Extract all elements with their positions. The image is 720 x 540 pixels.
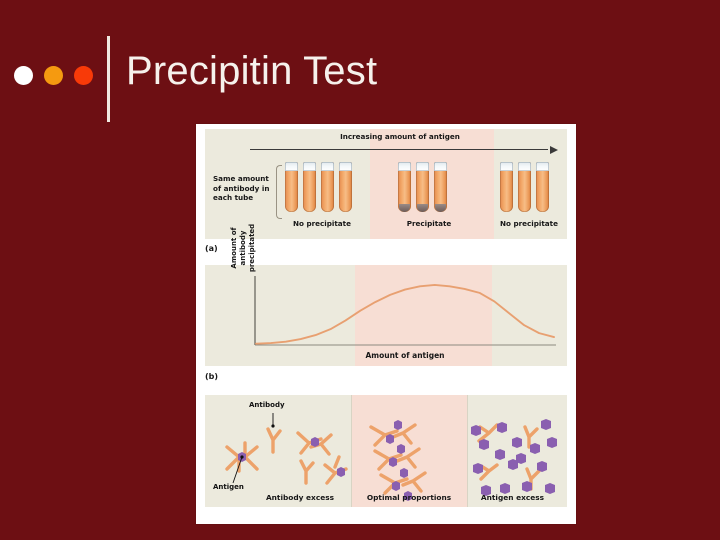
antigen-hexagon xyxy=(537,461,547,472)
antibody-brace-icon xyxy=(276,165,282,219)
panel-b-tag: (b) xyxy=(205,372,218,381)
antigen-hexagon xyxy=(516,453,526,464)
tube-meniscus xyxy=(285,162,298,171)
test-tube xyxy=(536,162,549,212)
lattice-svg xyxy=(205,395,567,507)
caption-optimal-proportions: Optimal proportions xyxy=(354,493,464,502)
test-tube xyxy=(303,162,316,212)
caption-antibody-excess: Antibody excess xyxy=(245,493,355,502)
callout-dot xyxy=(240,455,243,458)
test-tube xyxy=(321,162,334,212)
arrow-line xyxy=(250,149,548,150)
antigen-hexagon xyxy=(400,468,408,478)
callout-dot xyxy=(271,424,274,427)
panel-a-test-tubes: Increasing amount of antigen Same amount… xyxy=(205,129,567,239)
dot-white-icon xyxy=(14,66,33,85)
tube-meniscus xyxy=(500,162,513,171)
dot-red-icon xyxy=(74,66,93,85)
arrow-head-icon xyxy=(550,146,558,154)
tube-meniscus xyxy=(518,162,531,171)
dot-amber-icon xyxy=(44,66,63,85)
tube-meniscus xyxy=(398,162,411,171)
antigen-hexagon xyxy=(522,481,532,492)
antigen-hexagon xyxy=(397,444,405,454)
antigen-hexagon xyxy=(386,434,394,444)
caption-no-precipitate-right: No precipitate xyxy=(479,219,579,228)
test-tube xyxy=(398,162,411,212)
antigen-hexagon xyxy=(495,449,505,460)
slide-header: Precipitin Test xyxy=(0,0,720,125)
test-tube xyxy=(500,162,513,212)
precipitate-layer xyxy=(399,204,411,212)
tube-meniscus xyxy=(321,162,334,171)
chart-x-axis-label: Amount of antigen xyxy=(254,351,556,360)
precipitate-layer xyxy=(435,204,447,212)
antigen-hexagon xyxy=(389,457,397,467)
caption-antigen-excess: Antigen excess xyxy=(460,493,565,502)
tube-group-no-precipitate-right xyxy=(500,162,549,212)
test-tube xyxy=(518,162,531,212)
tube-meniscus xyxy=(416,162,429,171)
test-tube xyxy=(434,162,447,212)
y-label-line-2: precipitated xyxy=(248,224,256,272)
y-label-line-1: Amount of antibody xyxy=(230,227,247,268)
test-tube xyxy=(285,162,298,212)
antigen-hexagon xyxy=(473,463,483,474)
antigen-hexagon xyxy=(512,437,522,448)
antigen-shapes-group xyxy=(238,437,345,477)
page-title: Precipitin Test xyxy=(126,47,377,95)
panel-b-precipitin-curve: Amount of antibody precipitated Amount o… xyxy=(205,265,567,366)
tube-meniscus xyxy=(303,162,316,171)
increasing-antigen-arrow xyxy=(250,145,558,155)
caption-no-precipitate-left: No precipitate xyxy=(267,219,377,228)
chart-y-axis-label: Amount of antibody precipitated xyxy=(230,215,257,281)
antigen-hexagon xyxy=(497,422,507,433)
title-divider-rule xyxy=(107,36,110,122)
precipitin-figure-card: Increasing amount of antigen Same amount… xyxy=(196,124,576,524)
tube-group-no-precipitate-left xyxy=(285,162,352,212)
antigen-hexagon xyxy=(541,419,551,430)
panel-c-lattice-diagrams: Antibody Antigen Antibody excess Optimal… xyxy=(205,395,567,507)
tube-meniscus xyxy=(536,162,549,171)
antigen-hexagon xyxy=(471,425,481,436)
test-tube xyxy=(416,162,429,212)
antigen-callout-label: Antigen xyxy=(213,483,244,491)
antigen-hexagon xyxy=(392,481,400,491)
tube-meniscus xyxy=(339,162,352,171)
antigen-hexagon xyxy=(394,420,402,430)
antibody-free-group xyxy=(479,425,539,489)
chart-svg xyxy=(254,275,556,348)
antigen-hexagon xyxy=(337,467,345,477)
test-tube xyxy=(339,162,352,212)
antibody-callout-label: Antibody xyxy=(249,401,285,409)
tube-group-precipitate xyxy=(398,162,447,212)
decorative-dots xyxy=(14,66,93,85)
caption-precipitate: Precipitate xyxy=(378,219,480,228)
antigen-hexagon xyxy=(547,437,557,448)
antigen-hexagon xyxy=(479,439,489,450)
increasing-antigen-label: Increasing amount of antigen xyxy=(305,132,495,141)
antigen-hexagon xyxy=(530,443,540,454)
precipitate-layer xyxy=(417,204,429,212)
precipitin-curve-chart: Amount of antibody precipitated xyxy=(254,275,556,348)
same-antibody-amount-label: Same amount of antibody in each tube xyxy=(213,174,275,203)
antigen-hexagon xyxy=(311,437,319,447)
precipitin-curve-line xyxy=(256,285,554,344)
tube-meniscus xyxy=(434,162,447,171)
panel-a-tag: (a) xyxy=(205,244,218,253)
